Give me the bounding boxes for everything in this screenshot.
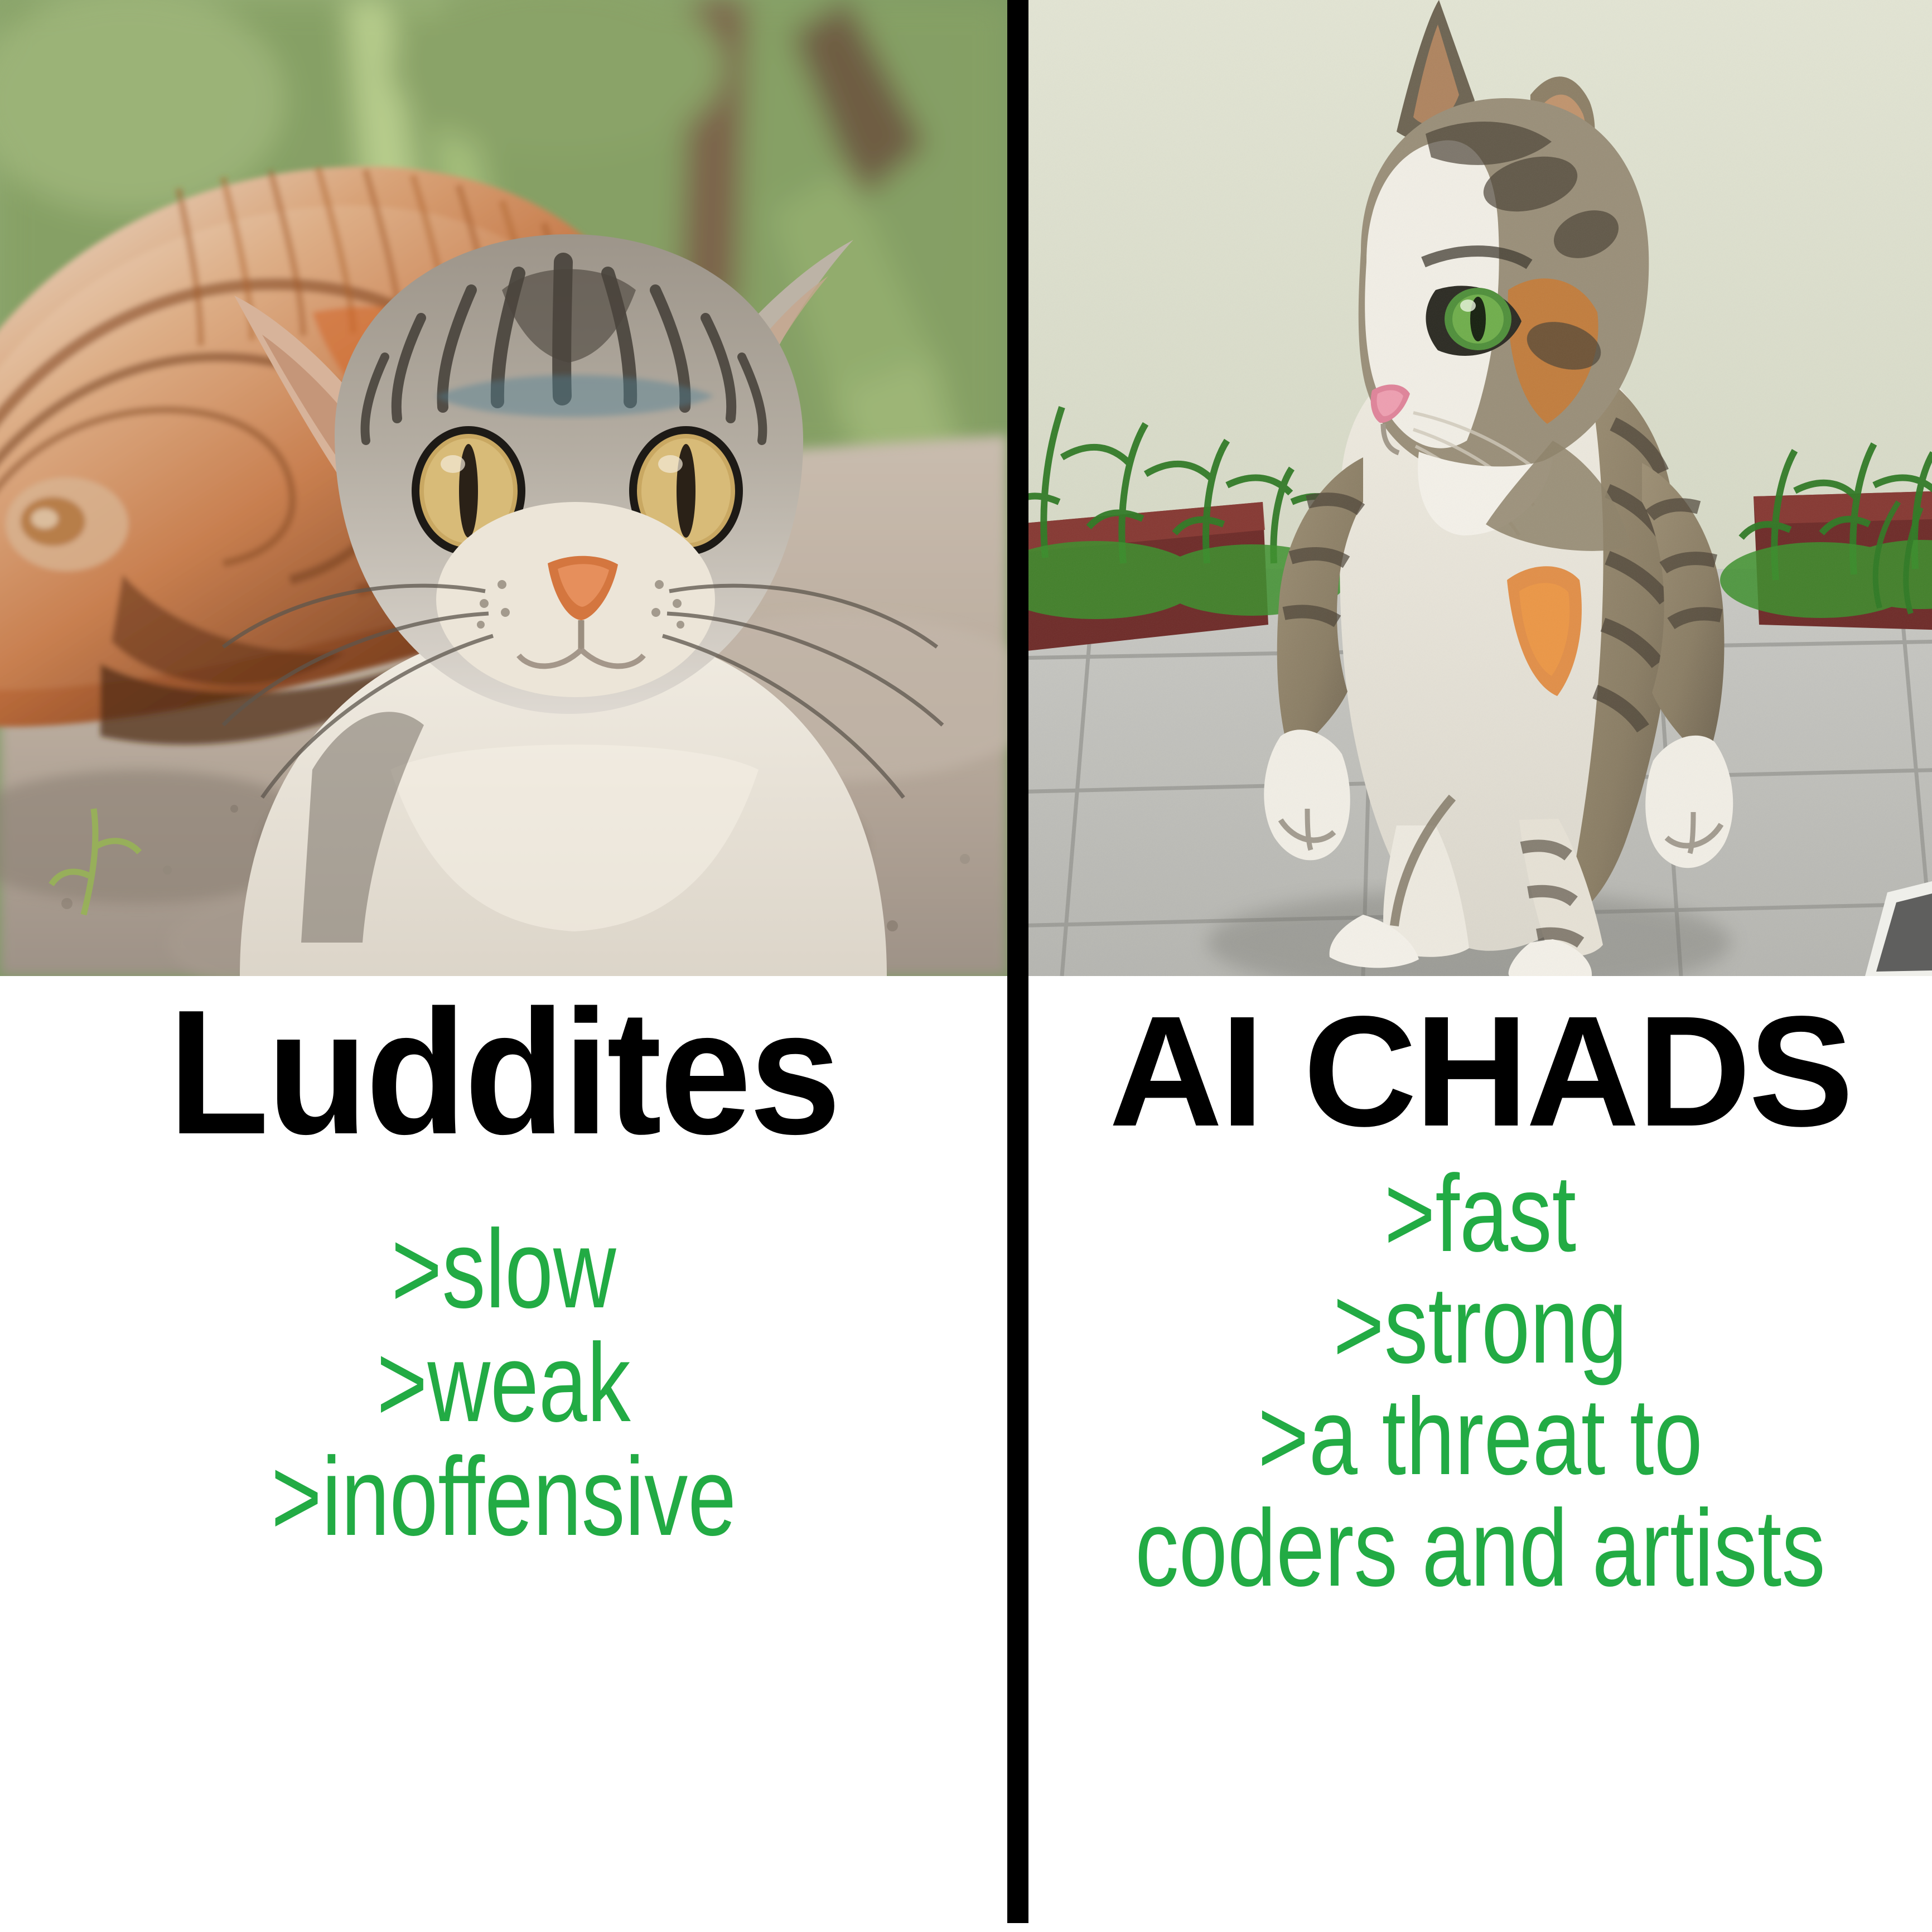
- left-greentext-line-2: >weak: [111, 1326, 897, 1440]
- snail-cat-photo: [0, 0, 1007, 976]
- right-greentext-line-1: >fast: [1119, 1158, 1842, 1269]
- buff-cat-illustration: [1028, 0, 1932, 976]
- right-greentext-list: >fast >strong >a threat to coders and ar…: [1119, 1158, 1842, 1604]
- snail-cat-illustration: [0, 0, 1007, 976]
- meme-canvas: Luddites >slow >weak >inoffensive: [0, 0, 1932, 1932]
- buff-cat-photo: [1028, 0, 1932, 976]
- right-panel-title: AI CHADS: [1028, 993, 1932, 1150]
- right-panel: AI CHADS >fast >strong >a threat to code…: [1028, 0, 1932, 1932]
- left-greentext-line-3: >inoffensive: [111, 1440, 897, 1554]
- right-greentext-line-2: >strong: [1119, 1269, 1842, 1381]
- left-greentext-list: >slow >weak >inoffensive: [111, 1213, 897, 1554]
- left-caption-block: Luddites >slow >weak >inoffensive: [0, 976, 1007, 1554]
- right-greentext-line-3: >a threat to coders and artists: [1119, 1381, 1842, 1604]
- panel-divider: [1007, 0, 1028, 1923]
- left-greentext-line-1: >slow: [111, 1213, 897, 1326]
- right-caption-block: AI CHADS >fast >strong >a threat to code…: [1028, 976, 1932, 1604]
- left-panel-title: Luddites: [35, 984, 972, 1161]
- left-panel: Luddites >slow >weak >inoffensive: [0, 0, 1007, 1932]
